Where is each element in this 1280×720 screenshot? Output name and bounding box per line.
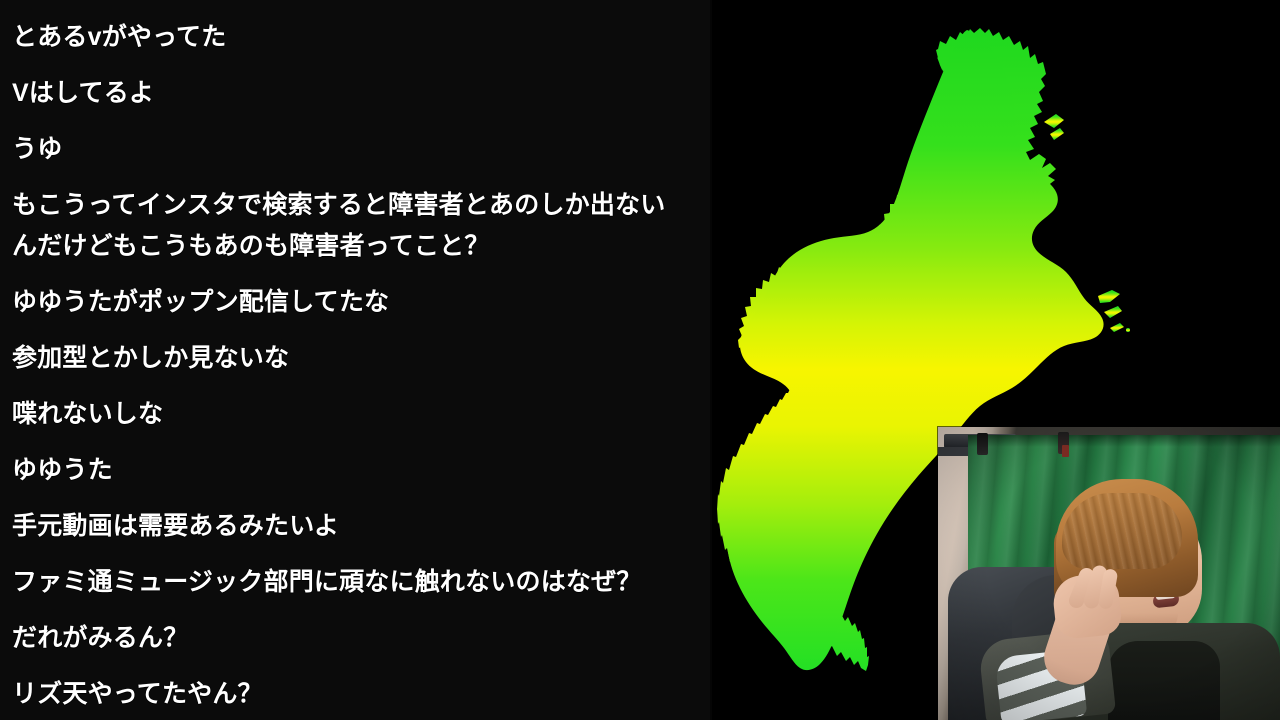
chat-message: とあるvがやってた — [0, 17, 710, 58]
chat-message: Vはしてるよ — [0, 73, 710, 114]
chat-message: うゆ — [0, 129, 710, 170]
live-chat-panel[interactable]: とあるvがやってた Vはしてるよ うゆ もこうってインスタで検索すると障害者とあ… — [0, 0, 710, 720]
chat-message-list[interactable]: とあるvがやってた Vはしてるよ うゆ もこうってインスタで検索すると障害者とあ… — [0, 0, 710, 720]
chat-message: だれがみるん？ — [0, 618, 710, 659]
chat-message: ファミ通ミュージック部門に頑なに触れないのはなぜ？ — [0, 562, 710, 603]
chat-message: ゆゆうた — [0, 450, 710, 491]
stream-layout: とあるvがやってた Vはしてるよ うゆ もこうってインスタで検索すると障害者とあ… — [0, 0, 1280, 720]
chat-message: 手元動画は需要あるみたいよ — [0, 506, 710, 547]
facecam-overlay[interactable] — [938, 427, 1280, 720]
chat-message: 喋れないしな — [0, 394, 710, 435]
chat-message: リズ天やってたやん？ — [0, 674, 710, 715]
chat-message: もこうってインスタで検索すると障害者とあのしか出ないんだけどもこうもあのも障害者… — [0, 185, 710, 267]
chat-message: ゆゆうたがポップン配信してたな — [0, 282, 710, 323]
camera-vignette — [938, 427, 1280, 720]
chat-message: 参加型とかしか見ないな — [0, 338, 710, 379]
